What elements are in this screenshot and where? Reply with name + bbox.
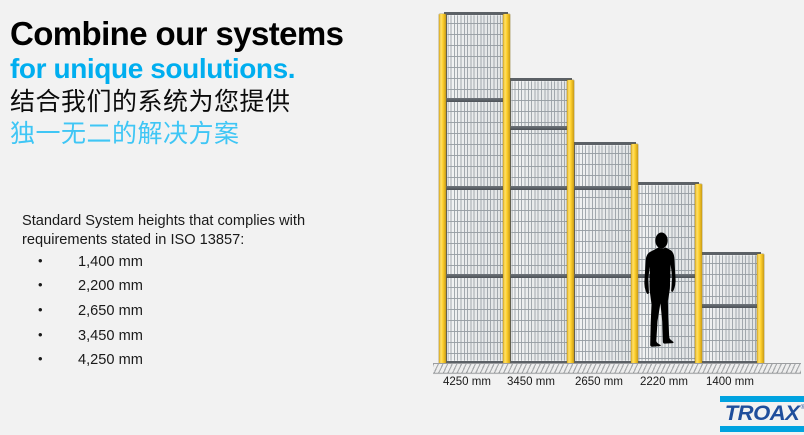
panel-label-4250: 4250 mm — [443, 376, 491, 388]
list-item: 2,650 mm — [22, 304, 422, 319]
headline-line-2: for unique soulutions. — [10, 53, 430, 84]
panel-rail — [444, 186, 508, 190]
fence-post — [695, 184, 702, 366]
headline-line-4-cn: 独一无二的解决方案 — [10, 119, 430, 150]
fence-post — [757, 254, 764, 366]
fence-panel-4250 — [444, 12, 508, 364]
heights-bullet-list: 1,400 mm 2,200 mm 2,650 mm 3,450 mm 4,25… — [22, 255, 422, 368]
fence-panel-2650 — [572, 142, 636, 364]
panel-rail — [572, 186, 636, 190]
slide-root: Combine our systems for unique soulution… — [0, 0, 804, 435]
list-item: 1,400 mm — [22, 255, 422, 270]
panel-frame — [699, 252, 761, 364]
panel-rail — [444, 274, 508, 278]
panel-label-2220: 2220 mm — [640, 376, 688, 388]
panel-frame — [572, 142, 636, 364]
fence-post — [439, 14, 446, 366]
panel-rail — [508, 126, 572, 130]
ground-shadow — [433, 372, 801, 375]
body-intro-text: Standard System heights that complies wi… — [22, 212, 352, 251]
troax-logo: TROAX ® — [720, 396, 804, 432]
walking-man-silhouette — [641, 232, 683, 364]
panel-rail — [508, 274, 572, 278]
panel-label-row: 4250 mm 3450 mm 2650 mm 2220 mm 1400 mm — [430, 376, 804, 394]
panel-frame — [508, 78, 572, 364]
panel-rail — [699, 304, 761, 308]
fence-post — [631, 144, 638, 366]
fence-post — [503, 14, 510, 366]
fence-post — [567, 80, 574, 366]
logo-bar-bottom — [720, 426, 804, 432]
headline-line-3-cn: 结合我们的系统为您提供 — [10, 87, 430, 118]
fence-panel-1400 — [699, 252, 761, 364]
body-text-block: Standard System heights that complies wi… — [22, 212, 422, 378]
panel-label-2650: 2650 mm — [575, 376, 623, 388]
panel-rail — [508, 186, 572, 190]
panel-rail — [444, 98, 508, 102]
logo-trademark: ® — [801, 405, 804, 411]
panel-label-1400: 1400 mm — [706, 376, 754, 388]
fence-panel-3450 — [508, 78, 572, 364]
list-item: 3,450 mm — [22, 329, 422, 344]
panel-rail — [572, 274, 636, 278]
fence-illustration: 4250 mm 3450 mm 2650 mm 2220 mm 1400 mm … — [430, 0, 804, 435]
panel-label-3450: 3450 mm — [507, 376, 555, 388]
list-item: 2,200 mm — [22, 279, 422, 294]
headline-block: Combine our systems for unique soulution… — [10, 16, 430, 150]
list-item: 4,250 mm — [22, 353, 422, 368]
logo-wordmark: TROAX — [718, 402, 804, 426]
headline-line-1: Combine our systems — [10, 16, 430, 52]
